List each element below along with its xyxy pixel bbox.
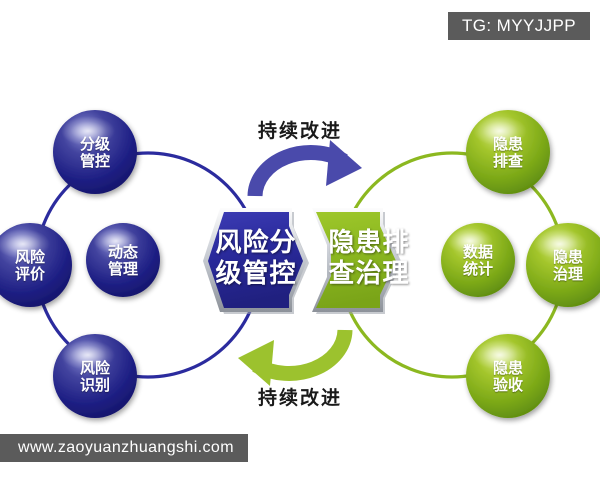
- top-improvement-arrow-icon: [255, 140, 362, 196]
- right-node-bottom-gloss: [473, 340, 527, 370]
- right-cycle-group: [312, 110, 600, 418]
- right-node-center[interactable]: [441, 223, 515, 297]
- right-node-right-gloss: [533, 229, 587, 259]
- right-node-center-gloss: [447, 228, 493, 254]
- right-node-right[interactable]: [526, 223, 600, 307]
- left-node-bottom-gloss: [61, 340, 115, 370]
- left-node-top[interactable]: [53, 110, 137, 194]
- right-chevron[interactable]: [312, 208, 402, 314]
- top-improvement-label: 持续改进: [252, 116, 348, 143]
- right-node-top-gloss: [473, 116, 527, 146]
- left-chevron[interactable]: [203, 208, 309, 314]
- right-node-bottom[interactable]: [466, 334, 550, 418]
- left-node-left[interactable]: [0, 223, 72, 307]
- left-node-center[interactable]: [86, 223, 160, 297]
- bottom-improvement-label: 持续改进: [252, 383, 348, 410]
- left-node-top-gloss: [61, 116, 115, 146]
- left-node-center-gloss: [93, 228, 139, 254]
- site-watermark: www.zaoyuanzhuangshi.com: [0, 434, 248, 462]
- right-node-top[interactable]: [466, 110, 550, 194]
- tg-badge: TG: MYYJJPP: [448, 12, 590, 40]
- bottom-improvement-arrow-icon: [238, 330, 345, 386]
- left-node-bottom[interactable]: [53, 334, 137, 418]
- left-chevron-face: [208, 212, 303, 308]
